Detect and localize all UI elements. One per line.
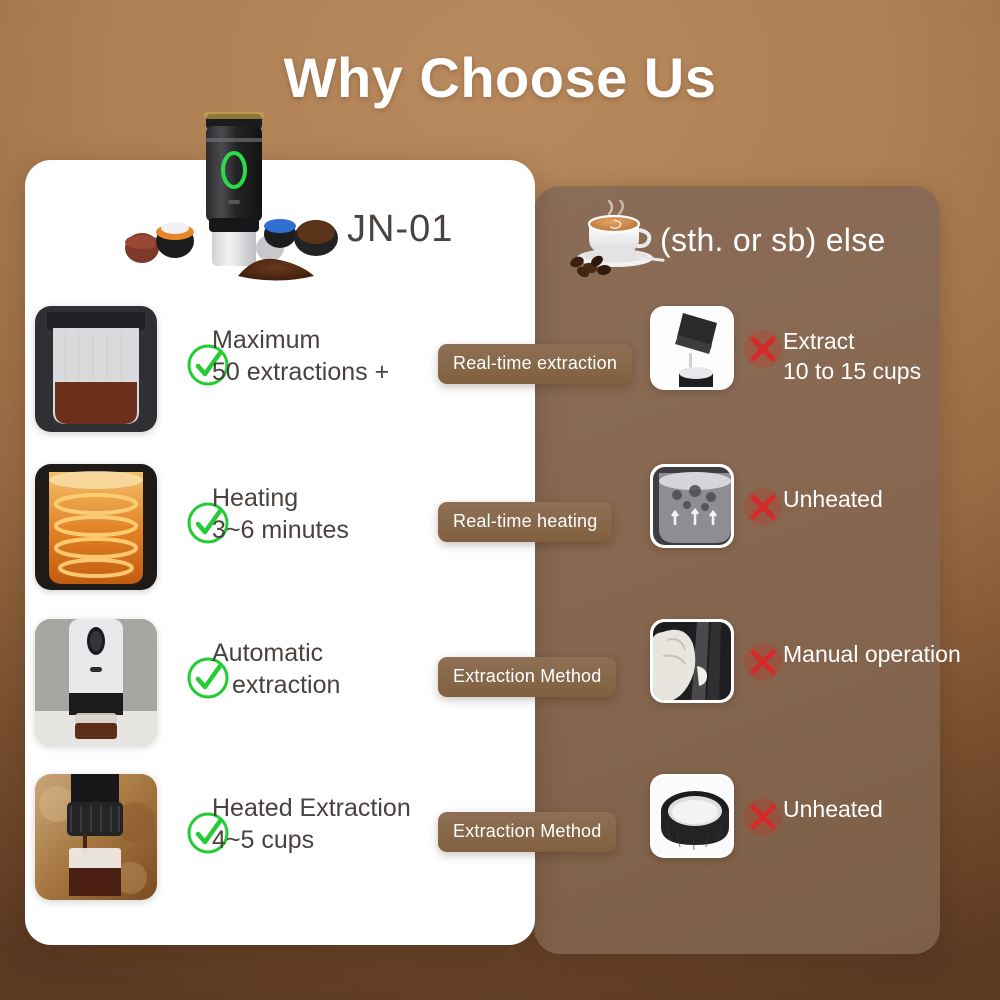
- comparison-badge: Extraction Method: [438, 657, 616, 697]
- comparison-badge: Real-time extraction: [438, 344, 632, 384]
- comparison-badge: Extraction Method: [438, 812, 616, 852]
- comparison-badge: Real-time heating: [438, 502, 612, 542]
- con-line-1: Unheated: [783, 486, 883, 512]
- pro-line-1: Maximum: [212, 326, 320, 354]
- cross-circle-icon: [740, 326, 786, 372]
- feature-row: Heated Extraction 4~5 cups Extraction Me…: [0, 770, 1000, 920]
- pro-feature-text: Heating 3~6 minutes: [212, 482, 442, 546]
- con-line-1: Unheated: [783, 796, 883, 822]
- con-feature-text: Manual operation: [783, 639, 998, 669]
- cross-circle-icon: [740, 639, 786, 685]
- pro-line-2: extraction: [212, 669, 442, 701]
- portable-espresso-machine-icon: [120, 108, 350, 283]
- cold-water-pot-photo: [650, 464, 734, 548]
- french-press-plunger-photo: [650, 306, 734, 390]
- feature-row: Automatic extraction Extraction Method M…: [0, 615, 1000, 765]
- pro-line-1: Heated Extraction: [212, 794, 411, 822]
- coffee-carafe-photo: [35, 306, 157, 432]
- heating-coil-liquid-photo: [35, 464, 157, 590]
- pro-feature-text: Automatic extraction: [212, 637, 442, 701]
- con-feature-text: Unheated: [783, 484, 998, 514]
- feature-row: Maximum 50 extractions + Real-time extra…: [0, 302, 1000, 452]
- con-feature-text: Extract 10 to 15 cups: [783, 326, 998, 387]
- cross-circle-icon: [740, 484, 786, 530]
- pro-feature-text: Maximum 50 extractions +: [212, 324, 442, 388]
- pro-line-1: Automatic: [212, 639, 323, 667]
- page-title: Why Choose Us: [0, 45, 1000, 110]
- con-line-1: Manual operation: [783, 641, 961, 667]
- feature-row: Heating 3~6 minutes Real-time heating: [0, 460, 1000, 610]
- con-line-1: Extract: [783, 328, 855, 354]
- pro-line-1: Heating: [212, 484, 298, 512]
- pro-line-2: 50 extractions +: [212, 356, 442, 388]
- product-model-name: JN-01: [347, 208, 453, 251]
- machine-button-photo: [35, 619, 157, 745]
- espresso-pouring-photo: [35, 774, 157, 900]
- cross-circle-icon: [740, 794, 786, 840]
- filter-basket-photo: [650, 774, 734, 858]
- competitor-label: (sth. or sb) else: [660, 222, 886, 259]
- coffee-cup-icon: [563, 200, 671, 278]
- hand-pressing-photo: [650, 619, 734, 703]
- con-line-2: 10 to 15 cups: [783, 356, 998, 386]
- con-feature-text: Unheated: [783, 794, 998, 824]
- pro-line-2: 3~6 minutes: [212, 514, 442, 546]
